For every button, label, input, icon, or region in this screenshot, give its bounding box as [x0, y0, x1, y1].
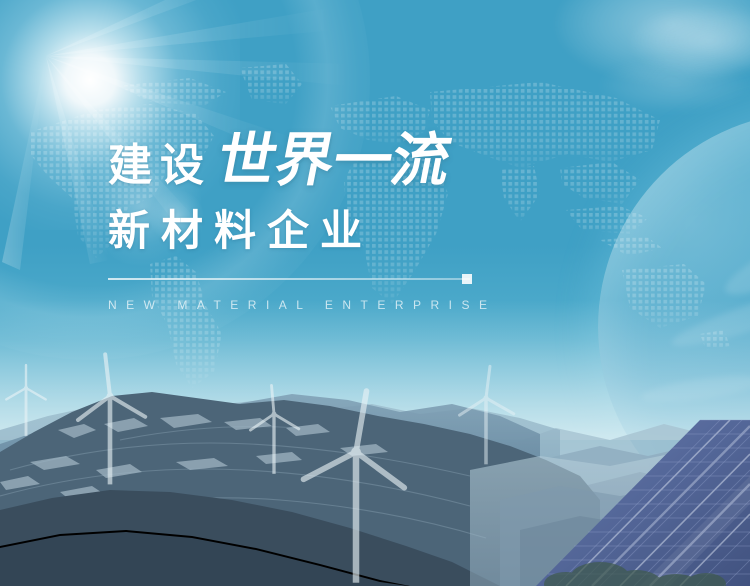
hero-banner: 建设 世界一流 新材料企业 NEW MATERIAL ENTERPRISE: [0, 0, 750, 586]
divider-end-square: [462, 274, 472, 284]
headline-accent-text: 世界一流: [212, 132, 455, 190]
headline-divider: [108, 278, 470, 280]
headline-line-2: 新材料企业: [108, 210, 528, 252]
headline-subtitle: NEW MATERIAL ENTERPRISE: [108, 298, 528, 312]
headline-plain-text: 建设: [108, 144, 212, 188]
headline-line-1: 建设 世界一流: [108, 132, 528, 194]
headline-block: 建设 世界一流 新材料企业 NEW MATERIAL ENTERPRISE: [108, 132, 528, 312]
